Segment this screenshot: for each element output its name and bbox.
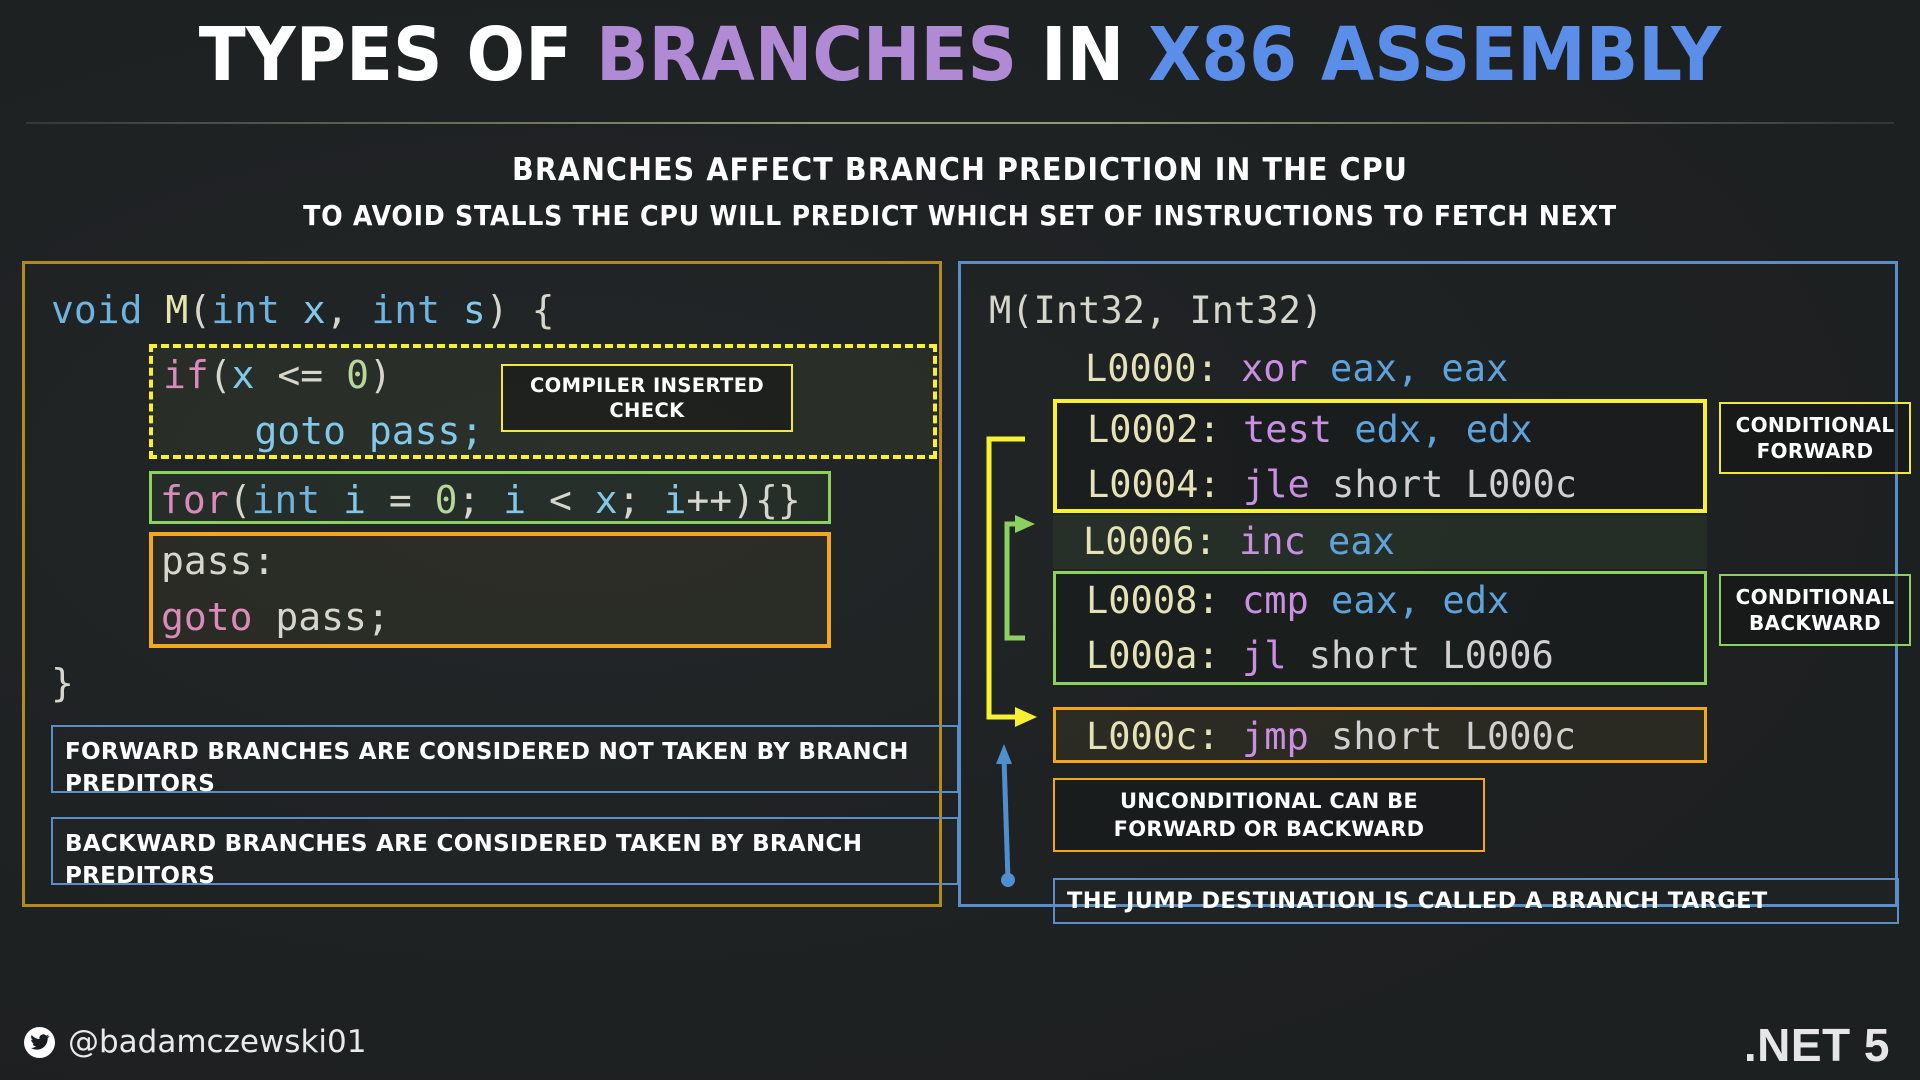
for-empty-body: {} <box>755 478 801 522</box>
compiler-inserted-check-label: COMPILER INSERTED CHECK <box>501 364 793 432</box>
asm-line-l0002: L0002: test edx, edx <box>1087 401 1533 459</box>
for-literal-zero: 0 <box>435 478 458 522</box>
method-name: M <box>165 288 188 332</box>
subtitle-line-2: TO AVOID STALLS THE CPU WILL PREDICT WHI… <box>77 200 1843 232</box>
asm-mnemonic-cmp: cmp <box>1242 579 1309 622</box>
code-line-if: if(x <= 0) <box>163 347 392 404</box>
compiler-inserted-check-text: COMPILER INSERTED CHECK <box>503 373 791 423</box>
asm-label-l000a: L000a: <box>1086 634 1220 677</box>
asm-row-l0006-target: L0006: inc eax <box>1053 515 1707 569</box>
twitter-handle-text: @badamczewski01 <box>68 1024 366 1060</box>
code-line-goto-pass-2: goto pass; <box>161 589 390 646</box>
keyword-goto-1: goto <box>255 409 347 453</box>
note-backward-branches: BACKWARD BRANCHES ARE CONSIDERED TAKEN B… <box>51 817 959 885</box>
if-var-x: x <box>232 353 255 397</box>
keyword-void: void <box>51 288 143 332</box>
tag-conditional-backward-text: CONDITIONAL BACKWARD <box>1721 584 1909 636</box>
twitter-icon[interactable] <box>24 1027 55 1058</box>
compiler-inserted-check-highlight: if(x <= 0) goto pass; COMPILER INSERTED … <box>149 344 937 459</box>
branch-target-arrow-dot <box>1001 873 1015 887</box>
tag-conditional-backward: CONDITIONAL BACKWARD <box>1719 574 1911 646</box>
asm-operands-l0002: edx, edx <box>1332 408 1532 451</box>
keyword-if: if <box>163 353 209 397</box>
branch-target-arrow-path <box>1004 758 1008 880</box>
footer-social-handle[interactable]: @badamczewski01 <box>24 1024 366 1060</box>
title-divider <box>26 122 1894 124</box>
if-literal-zero: 0 <box>346 353 369 397</box>
param-s: s <box>463 288 486 332</box>
code-line-closing-brace: } <box>51 655 74 712</box>
asm-line-l000a: L000a: jl short L0006 <box>1086 627 1554 685</box>
branch-target-arrowhead <box>996 744 1012 764</box>
csharp-source-panel: void M(int x, int s) { if(x <= 0) goto p… <box>22 261 942 907</box>
keyword-int-1: int <box>211 288 280 332</box>
asm-mnemonic-jle: jle <box>1243 463 1310 506</box>
for-var-i-step: i <box>663 478 686 522</box>
asm-line-l0004: L0004: jle short L000c <box>1087 456 1577 514</box>
code-line-goto-pass-1: goto pass; <box>163 403 483 460</box>
tag-conditional-forward-text: CONDITIONAL FORWARD <box>1721 412 1909 464</box>
assembly-output-panel: M(Int32, Int32) L0000: xor eax, eax L000… <box>958 261 1898 907</box>
note-forward-branches: FORWARD BRANCHES ARE CONSIDERED NOT TAKE… <box>51 725 959 793</box>
tag-branch-target: THE JUMP DESTINATION IS CALLED A BRANCH … <box>1053 878 1899 924</box>
tag-branch-target-text: THE JUMP DESTINATION IS CALLED A BRANCH … <box>1055 888 1768 914</box>
asm-label-l0004: L0004: <box>1087 463 1221 506</box>
page-title: TYPES OF BRANCHES IN X86 ASSEMBLY <box>67 10 1853 100</box>
code-line-method-signature: void M(int x, int s) { <box>51 282 554 339</box>
keyword-for: for <box>160 478 229 522</box>
keyword-int-3: int <box>252 478 321 522</box>
title-segment-branches: BRANCHES <box>596 12 1017 98</box>
param-x: x <box>303 288 326 332</box>
assembly-method-signature: M(Int32, Int32) <box>989 282 1323 340</box>
asm-label-l0000: L0000: <box>1085 347 1219 390</box>
tag-unconditional: UNCONDITIONAL CAN BE FORWARD OR BACKWARD <box>1053 778 1485 852</box>
asm-mnemonic-test: test <box>1243 408 1332 451</box>
dotnet-brand-label: .NET 5 <box>1744 1018 1890 1072</box>
asm-label-l0008: L0008: <box>1086 579 1220 622</box>
tag-unconditional-text: UNCONDITIONAL CAN BE FORWARD OR BACKWARD <box>1055 787 1483 843</box>
asm-label-l0002: L0002: <box>1087 408 1221 451</box>
asm-operands-l0000: eax, eax <box>1308 347 1508 390</box>
pass-label-highlight: pass: goto pass; <box>149 532 831 648</box>
asm-operands-l0006: eax <box>1306 520 1395 563</box>
slide-root: TYPES OF BRANCHES IN X86 ASSEMBLY BRANCH… <box>0 0 1920 1080</box>
subtitle-line-1: BRANCHES AFFECT BRANCH PREDICTION IN THE… <box>77 152 1843 188</box>
unconditional-jump-highlight: L000c: jmp short L000c <box>1053 707 1707 763</box>
asm-operands-l000c: short L000c <box>1309 715 1576 758</box>
asm-line-l0006: L0006: inc eax <box>1083 513 1395 571</box>
keyword-int-2: int <box>371 288 440 332</box>
asm-label-l0006: L0006: <box>1083 520 1217 563</box>
conditional-backward-highlight: L0008: cmp eax, edx L000a: jl short L000… <box>1053 571 1707 685</box>
for-loop-highlight: for(int i = 0; i < x; i++){} <box>149 471 831 524</box>
forward-branch-arrowhead <box>1015 707 1037 727</box>
label-pass: pass: <box>161 539 275 583</box>
title-segment-x86-assembly: X86 ASSEMBLY <box>1148 12 1721 98</box>
asm-operands-l0008: eax, edx <box>1309 579 1509 622</box>
for-var-i-cond: i <box>503 478 526 522</box>
tag-conditional-forward: CONDITIONAL FORWARD <box>1719 402 1911 474</box>
asm-mnemonic-jl: jl <box>1242 634 1287 677</box>
forward-branch-arrow-path <box>989 439 1025 717</box>
goto-target-pass-2: pass <box>275 595 367 639</box>
asm-line-l0008: L0008: cmp eax, edx <box>1086 572 1509 630</box>
asm-label-l000c: L000c: <box>1086 715 1220 758</box>
keyword-goto-2: goto <box>161 595 253 639</box>
code-line-for: for(int i = 0; i < x; i++){} <box>160 472 801 529</box>
asm-mnemonic-xor: xor <box>1241 347 1308 390</box>
asm-mnemonic-jmp: jmp <box>1242 715 1309 758</box>
title-segment-types-of: TYPES OF <box>199 12 596 98</box>
title-segment-in: IN <box>1017 12 1148 98</box>
if-operator: <= <box>255 353 347 397</box>
backward-branch-arrow-path <box>1007 524 1025 638</box>
goto-target-pass-1: pass <box>369 409 461 453</box>
code-line-pass-label: pass: <box>161 533 275 590</box>
asm-line-l0000: L0000: xor eax, eax <box>1085 340 1508 398</box>
asm-operands-l0004: short L000c <box>1310 463 1577 506</box>
backward-branch-arrowhead <box>1015 515 1035 533</box>
conditional-forward-highlight: L0002: test edx, edx L0004: jle short L0… <box>1053 399 1707 513</box>
for-var-i-init: i <box>343 478 366 522</box>
asm-line-l000c: L000c: jmp short L000c <box>1086 708 1576 766</box>
asm-operands-l000a: short L0006 <box>1287 634 1554 677</box>
for-var-x: x <box>595 478 618 522</box>
asm-mnemonic-inc: inc <box>1239 520 1306 563</box>
